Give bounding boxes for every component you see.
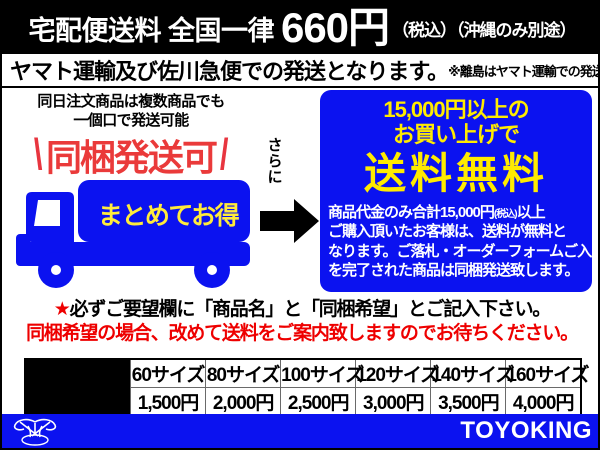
size-cell: 60サイズ [131,359,206,388]
price-cell: 2,000円 [206,388,281,417]
free-shipping-head: 15,000円以上の お買い上げで [320,97,592,148]
table-row-header-sub: （税込） [26,389,130,409]
carrier-main-text: ヤマト運輸及び佐川急便での発送となります。 [10,54,448,86]
free-shipping-headline: 送料無料 [320,152,592,196]
size-cell: 80サイズ [206,359,281,388]
bundling-column: 同日注文商品は複数商品でも 一個口で発送可能 \ 同梱発送可 / [2,90,260,296]
brand-label: TOYOKING [460,417,592,445]
header-price: 660円 [281,7,389,49]
slash-right-icon: / [220,133,229,177]
header-band: 宅配便送料 全国一律 660円 （税込）（沖縄のみ別途） [2,2,600,54]
sarani-label: さらに [264,138,286,185]
free-shipping-body: 商品代金のみ合計15,000円(税込)以上 ご購入頂いたお客様は、送料が無料と … [320,203,592,281]
bundling-lead-line1: 同日注文商品は複数商品でも [2,93,260,112]
notice-line-1-text: 必ずご要望欄に「商品名」と「同梱希望」とご記入下さい。 [70,299,551,320]
price-cell: 2,500円 [281,388,356,417]
free-shipping-head-line1: 15,000円以上の [320,97,592,122]
price-cell: 1,500円 [131,388,206,417]
notice-block: ★必ずご要望欄に「商品名」と「同梱希望」とご記入下さい。 同梱希望の場合、改めて… [2,298,600,346]
notice-line-1: ★必ずご要望欄に「商品名」と「同梱希望」とご記入下さい。 [2,298,600,322]
free-shipping-body-line3: なります。ご落札・オーダーフォームご入力 [328,242,584,262]
size-cell: 120サイズ [356,359,431,388]
price-cell: 3,500円 [431,388,506,417]
free-shipping-body-line1: 商品代金のみ合計15,000円(税込)以上 [328,203,584,223]
table-row-sizes: 沖縄送料 （税込） 60サイズ 80サイズ 100サイズ 120サイズ 140サ… [25,359,581,388]
price-cell: 3,000円 [356,388,431,417]
middle-section: 同日注文商品は複数商品でも 一個口で発送可能 \ 同梱発送可 / [2,90,600,296]
slash-left-icon: \ [34,133,43,177]
carrier-band: ヤマト運輸及び佐川急便での発送となります。 ※離島はヤマト運輸での発送となります… [2,54,600,88]
shipping-info-banner: 宅配便送料 全国一律 660円 （税込）（沖縄のみ別途） ヤマト運輸及び佐川急便… [0,0,600,450]
free-shipping-box: 15,000円以上の お買い上げで 送料無料 商品代金のみ合計15,000円(税… [320,90,592,292]
free-shipping-head-line2: お買い上げで [320,122,592,147]
body-line1-tax: (税込) [494,209,517,220]
price-cell: 4,000円 [506,388,581,417]
okinawa-fee-table: 沖縄送料 （税込） 60サイズ 80サイズ 100サイズ 120サイズ 140サ… [24,358,582,417]
transition-column: さらに [260,90,322,296]
bundling-headline: 同梱発送可 [46,129,216,181]
size-cell: 160サイズ [506,359,581,388]
bundling-lead-line2: 一個口で発送可能 [2,112,260,131]
table-row-header-main: 沖縄送料 [42,367,114,388]
header-main-label: 宅配便送料 全国一律 [28,9,274,48]
toyoking-emblem-icon [8,416,62,446]
footer-bar: TOYOKING [2,414,600,448]
notice-line-2: 同梱希望の場合、改めて送料をご案内致しますのでお待ちください。 [2,322,600,346]
star-icon: ★ [54,299,70,320]
bundling-lead-text: 同日注文商品は複数商品でも 一個口で発送可能 [2,93,260,131]
header-notes: （税込）（沖縄のみ別途） [392,16,576,41]
truck-label: まとめてお得 [88,196,248,232]
carrier-sub-text: ※離島はヤマト運輸での発送となります。 [448,61,600,80]
free-shipping-body-line2: ご購入頂いたお客様は、送料が無料と [328,222,584,242]
bundling-headline-row: \ 同梱発送可 / [2,132,260,178]
truck-icon [10,178,258,290]
size-cell: 140サイズ [431,359,506,388]
truck-illustration: まとめてお得 [10,178,258,290]
table-row-header: 沖縄送料 （税込） [25,359,131,416]
body-line1-a: 商品代金のみ合計15,000円 [328,204,494,221]
free-shipping-body-line4: を完了された商品は同梱発送致します。 [328,261,584,281]
size-cell: 100サイズ [281,359,356,388]
okinawa-fee-table-wrap: 沖縄送料 （税込） 60サイズ 80サイズ 100サイズ 120サイズ 140サ… [24,358,582,408]
body-line1-b: 以上 [517,204,545,221]
arrow-right-icon [260,198,320,244]
